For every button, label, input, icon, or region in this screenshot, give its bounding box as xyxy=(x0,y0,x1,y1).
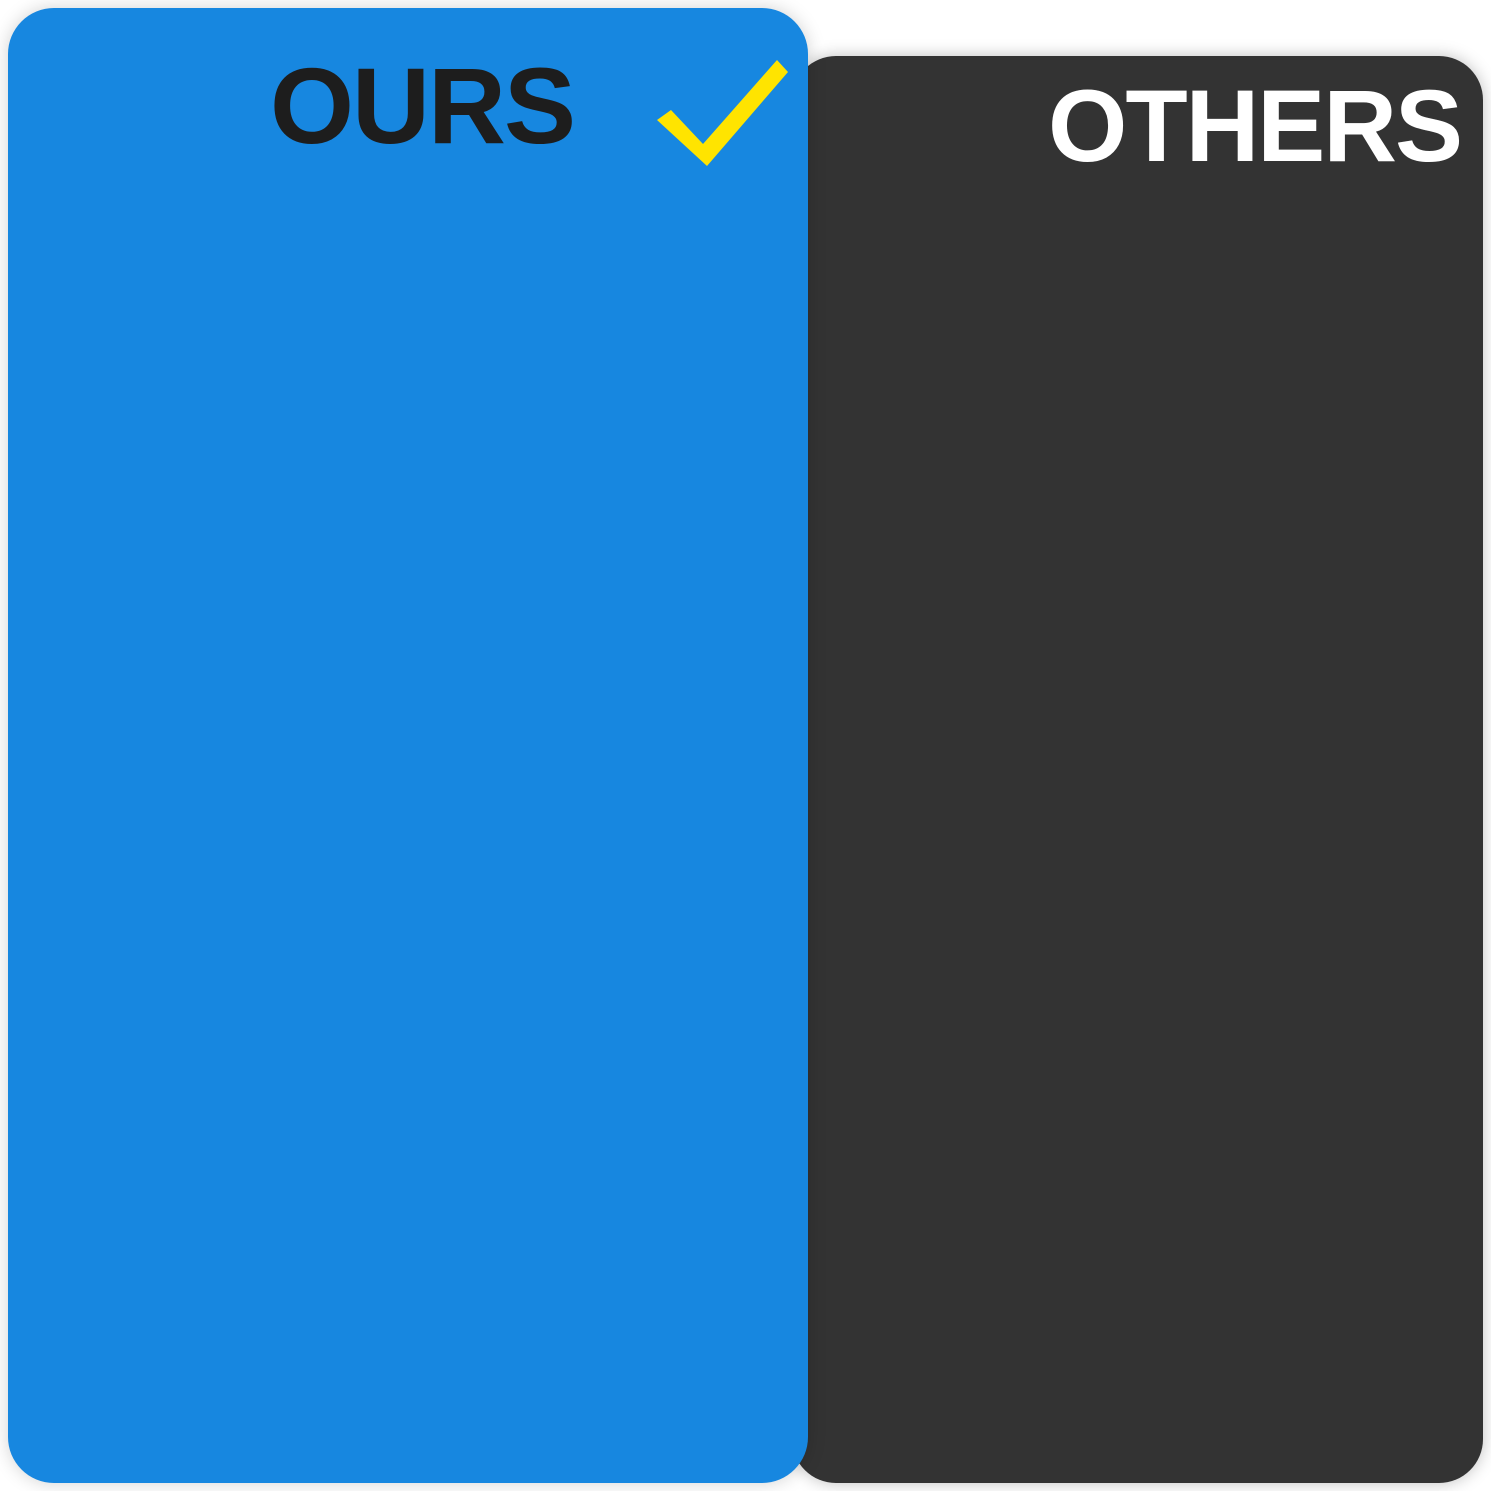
others-title: OTHERS xyxy=(1048,75,1461,177)
others-panel xyxy=(792,56,1483,1483)
check-mark-icon xyxy=(655,58,790,168)
ours-panel xyxy=(8,8,808,1483)
comparison-infographic: OURS OTHERS 360 360° Rotation xyxy=(0,0,1491,1491)
ours-title: OURS xyxy=(270,52,574,160)
